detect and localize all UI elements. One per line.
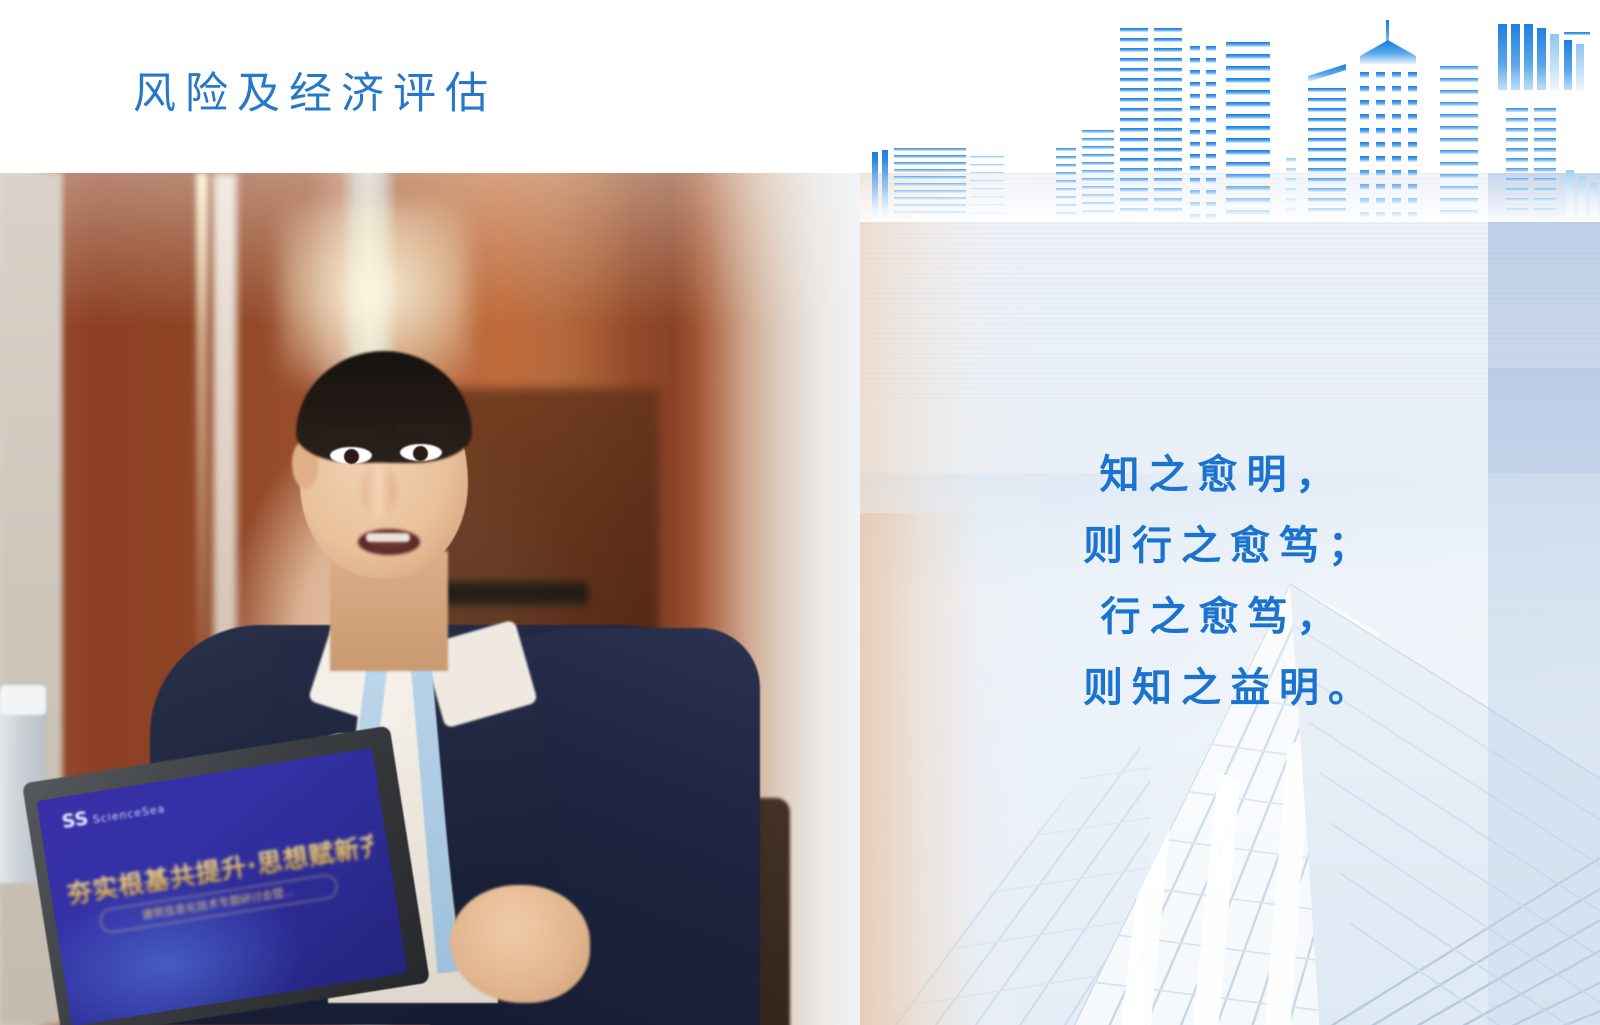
photo-nose xyxy=(362,465,396,519)
photo-pupil-left xyxy=(344,449,359,464)
page-title: 风险及经济评估 xyxy=(133,66,497,122)
photo-pupil-right xyxy=(413,446,428,461)
slide-header: 风险及经济评估 xyxy=(0,0,1600,173)
poem-line-4: 则知之益明。 xyxy=(860,653,1600,724)
photo-hair xyxy=(296,351,472,463)
photo-water-bottle-cap xyxy=(0,685,46,715)
slide-root: SS ScienceSea 夯实根基共提升·思想赋新齐发力 建筑信息化技术专题研… xyxy=(0,0,1600,1025)
poem-block: 知之愈明， 则行之愈笃； 行之愈笃， 则知之益明。 xyxy=(860,440,1600,724)
laptop-slide-logo-text: ScienceSea xyxy=(92,802,166,826)
laptop-slide-logo: SS ScienceSea xyxy=(60,795,166,833)
laptop-slide-logo-mark: SS xyxy=(60,807,90,833)
poem-line-2: 则行之愈笃； xyxy=(860,511,1600,582)
poem-line-3: 行之愈笃， xyxy=(860,582,1600,653)
photo-hand-right xyxy=(450,885,590,1003)
photo-teeth xyxy=(366,533,410,542)
poem-line-1: 知之愈明， xyxy=(860,440,1600,511)
speaker-photo: SS ScienceSea 夯实根基共提升·思想赋新齐发力 建筑信息化技术专题研… xyxy=(0,173,960,1025)
